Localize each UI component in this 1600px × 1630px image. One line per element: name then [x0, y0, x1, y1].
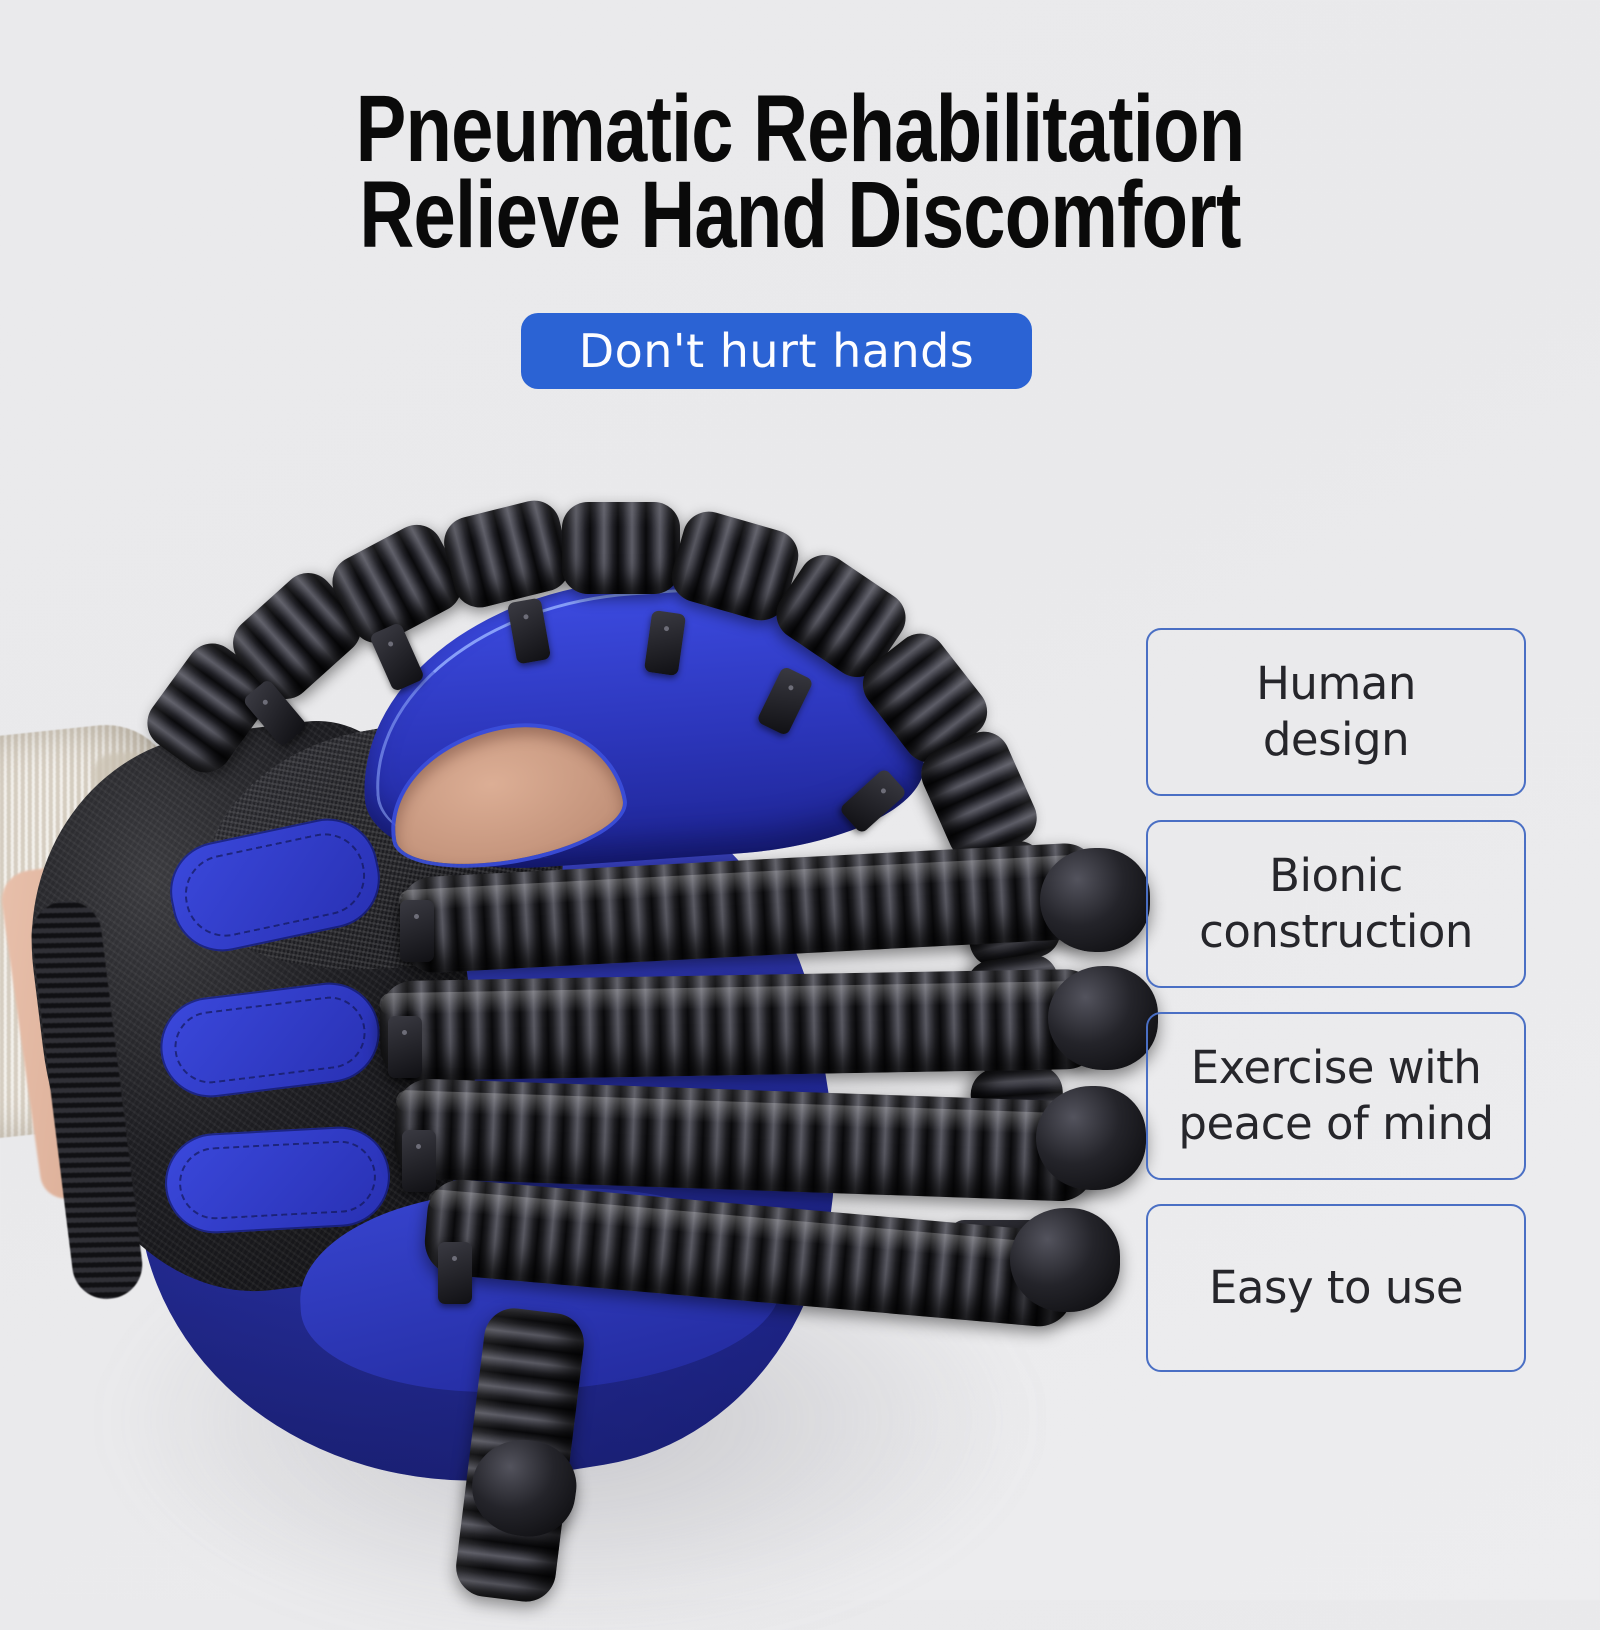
actuator-connector-tab [369, 622, 425, 692]
feature-label: Bionicconstruction [1199, 848, 1473, 960]
feature-box-easy-to-use[interactable]: Easy to use [1146, 1204, 1526, 1372]
dont-hurt-hands-badge[interactable]: Don't hurt hands [521, 313, 1032, 389]
fingertip-bulb-2 [1048, 966, 1158, 1070]
page-headline: Pneumatic Rehabilitation Relieve Hand Di… [160, 86, 1440, 258]
headline-line-1: Pneumatic Rehabilitation [160, 86, 1440, 172]
finger-pad-3 [163, 1124, 393, 1236]
fingertip-bulb-1 [1040, 848, 1150, 952]
feature-box-human-design[interactable]: Humandesign [1146, 628, 1526, 796]
badge-label: Don't hurt hands [579, 324, 975, 378]
finger-actuator-tube-2 [379, 969, 1101, 1082]
feature-box-bionic-construction[interactable]: Bionicconstruction [1146, 820, 1526, 988]
actuator-connector-tab [438, 1242, 472, 1304]
feature-list: Humandesign Bionicconstruction Exercise … [1146, 628, 1526, 1372]
product-photo [0, 430, 1160, 1510]
feature-label: Exercise withpeace of mind [1178, 1040, 1493, 1152]
feature-label: Humandesign [1256, 656, 1416, 768]
actuator-connector-tab [402, 1130, 436, 1192]
actuator-connector-tab [400, 900, 434, 962]
feature-box-exercise-peace-of-mind[interactable]: Exercise withpeace of mind [1146, 1012, 1526, 1180]
fingertip-bulb-3 [1036, 1086, 1146, 1190]
headline-line-2: Relieve Hand Discomfort [160, 172, 1440, 258]
actuator-connector-tab [388, 1016, 422, 1078]
fingertip-bulb-4 [1010, 1208, 1120, 1312]
feature-label: Easy to use [1209, 1260, 1463, 1316]
thumb-actuator-segment [562, 502, 680, 594]
